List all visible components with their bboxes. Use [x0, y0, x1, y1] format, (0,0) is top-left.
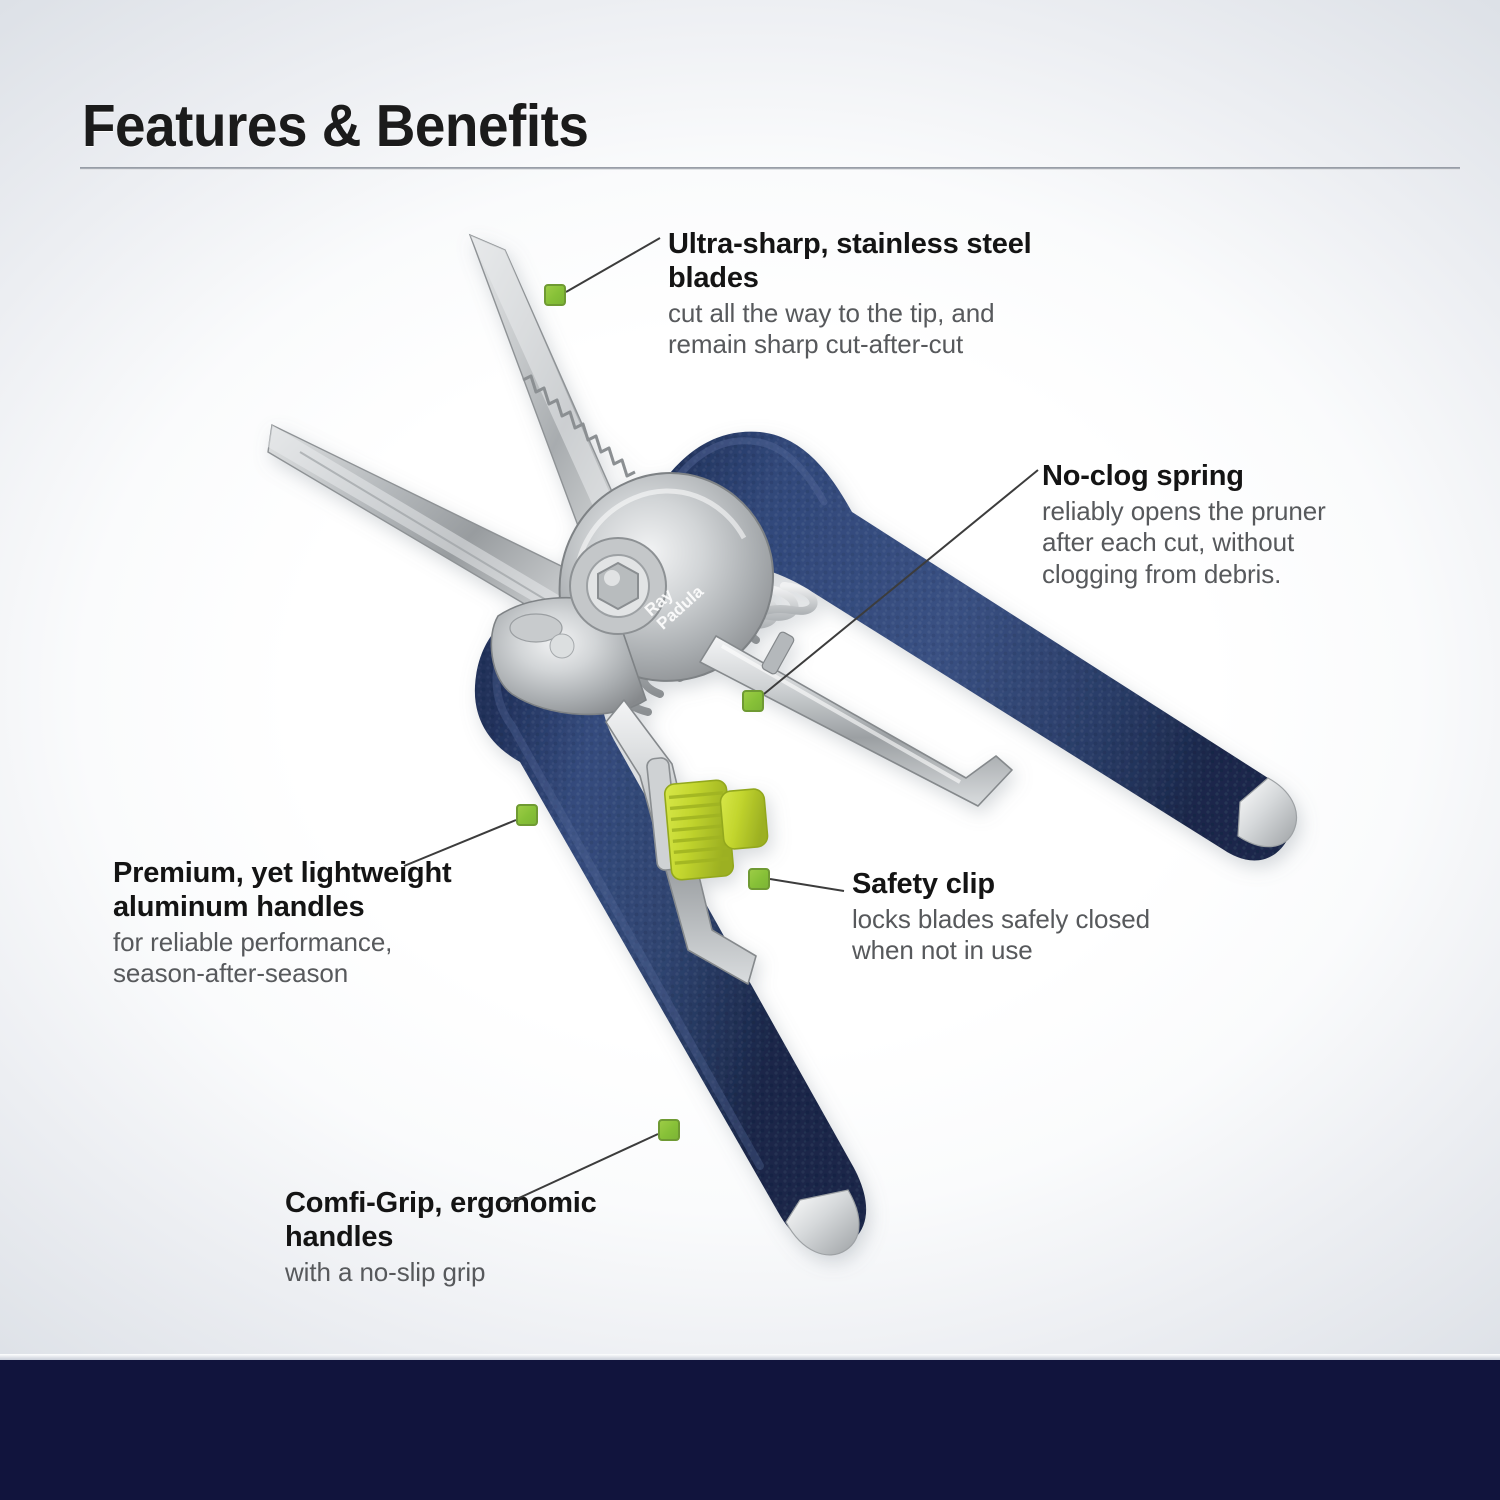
marker-square-safety[interactable] — [748, 868, 770, 890]
features-benefits-page: Features & Benefits — [0, 0, 1500, 1500]
marker-square-spring[interactable] — [742, 690, 764, 712]
marker-square-blades[interactable] — [544, 284, 566, 306]
blade-lower — [268, 425, 596, 625]
safety-clip — [664, 779, 769, 880]
marker-square-comfi[interactable] — [658, 1119, 680, 1141]
marker-square-premium[interactable] — [516, 804, 538, 826]
product-illustration-pruner: Ray Padula — [0, 0, 1500, 1500]
